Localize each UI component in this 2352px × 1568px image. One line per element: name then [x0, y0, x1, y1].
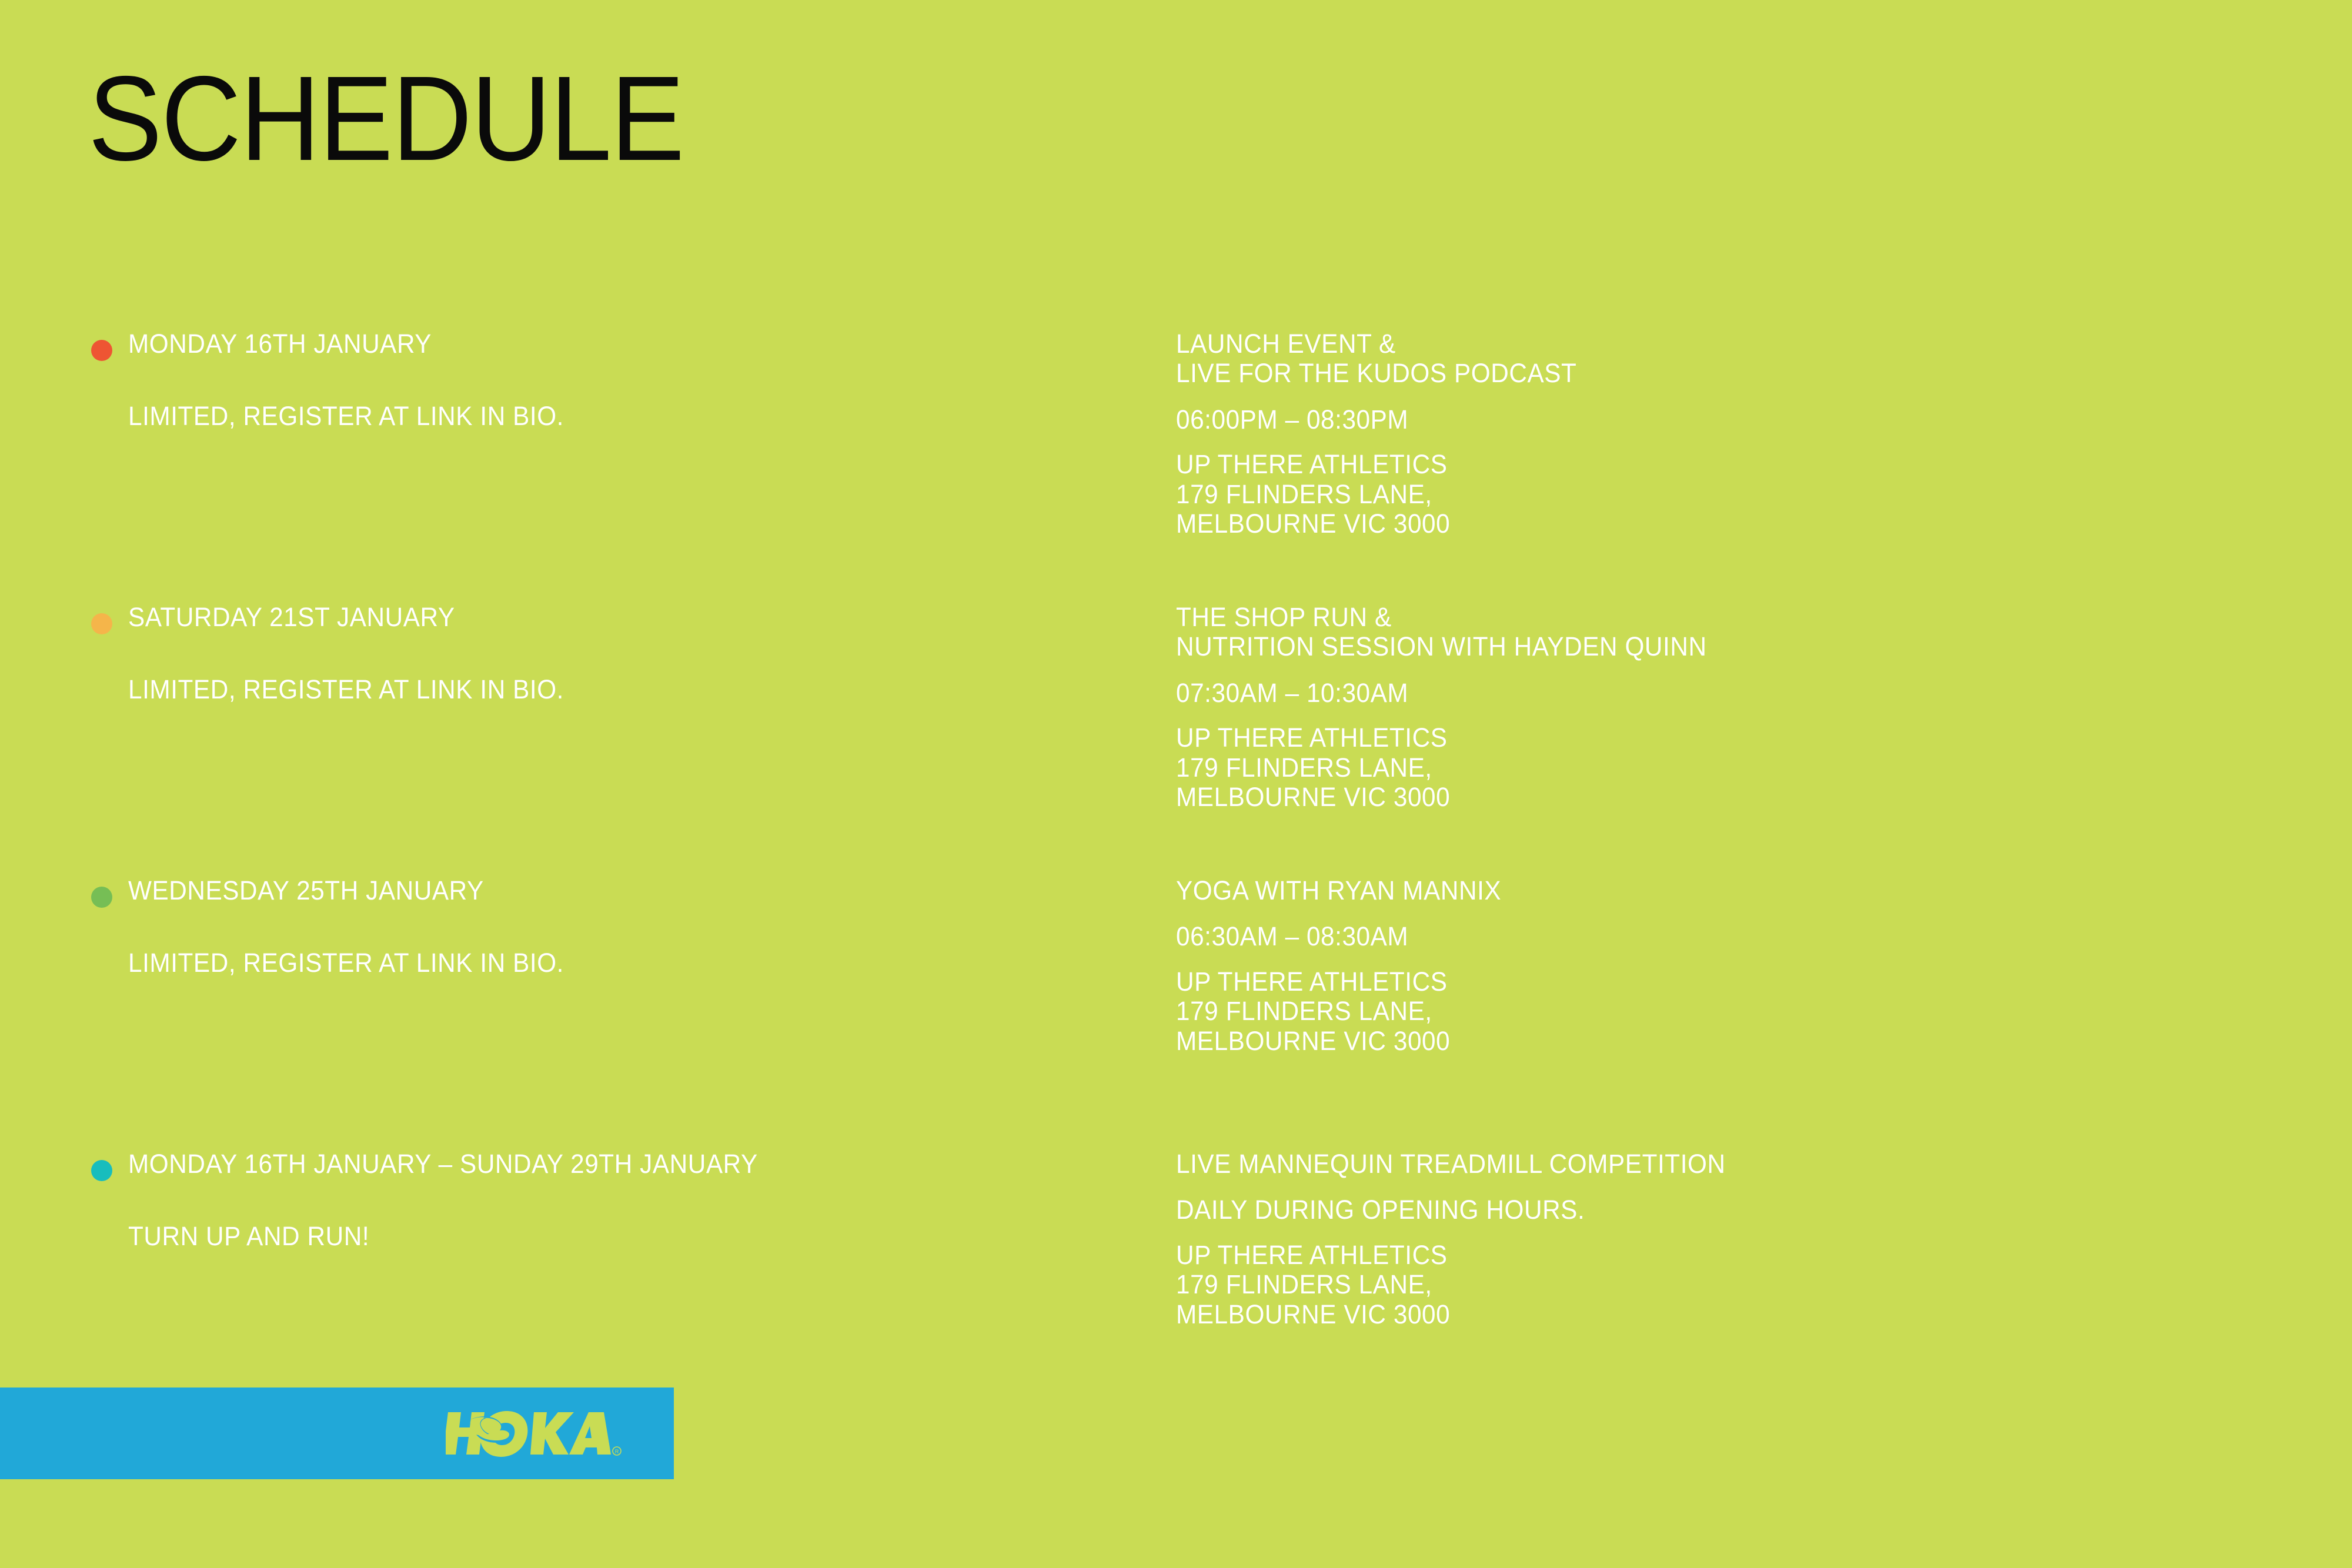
event-title: LIVE MANNEQUIN TREADMILL COMPETITION: [1176, 1149, 2199, 1179]
event-date: SATURDAY 21ST JANUARY: [128, 603, 1030, 632]
event-right-column: LIVE MANNEQUIN TREADMILL COMPETITION DAI…: [1176, 1149, 2199, 1329]
schedule-poster: SCHEDULE MONDAY 16TH JANUARY LIMITED, RE…: [0, 0, 2352, 1568]
event-row: MONDAY 16TH JANUARY LIMITED, REGISTER AT…: [0, 329, 2352, 603]
event-note: LIMITED, REGISTER AT LINK IN BIO.: [128, 675, 1030, 704]
event-venue: UP THERE ATHLETICS 179 FLINDERS LANE, ME…: [1176, 1241, 2199, 1329]
event-venue: UP THERE ATHLETICS 179 FLINDERS LANE, ME…: [1176, 723, 2199, 812]
event-time: 07:30AM – 10:30AM: [1176, 678, 2199, 708]
event-right-column: LAUNCH EVENT & LIVE FOR THE KUDOS PODCAS…: [1176, 329, 2199, 539]
schedule-list: MONDAY 16TH JANUARY LIMITED, REGISTER AT…: [0, 329, 2352, 1149]
event-time: 06:00PM – 08:30PM: [1176, 405, 2199, 434]
event-note: LIMITED, REGISTER AT LINK IN BIO.: [128, 948, 1030, 978]
event-bullet-icon: [91, 887, 112, 908]
page-title: SCHEDULE: [88, 62, 683, 176]
event-time: 06:30AM – 08:30AM: [1176, 922, 2199, 951]
event-left-column: MONDAY 16TH JANUARY LIMITED, REGISTER AT…: [88, 329, 1088, 432]
event-date: WEDNESDAY 25TH JANUARY: [128, 876, 1030, 905]
event-note: TURN UP AND RUN!: [128, 1222, 1030, 1251]
event-bullet-icon: [91, 340, 112, 361]
event-right-column: THE SHOP RUN & NUTRITION SESSION WITH HA…: [1176, 603, 2199, 812]
event-row: SATURDAY 21ST JANUARY LIMITED, REGISTER …: [0, 603, 2352, 876]
brand-footer-bar: R: [0, 1388, 674, 1479]
event-row: WEDNESDAY 25TH JANUARY LIMITED, REGISTER…: [0, 876, 2352, 1149]
event-date: MONDAY 16TH JANUARY – SUNDAY 29TH JANUAR…: [128, 1149, 1030, 1179]
event-title: THE SHOP RUN & NUTRITION SESSION WITH HA…: [1176, 603, 2199, 662]
event-title: YOGA WITH RYAN MANNIX: [1176, 876, 2199, 905]
event-right-column: YOGA WITH RYAN MANNIX 06:30AM – 08:30AM …: [1176, 876, 2199, 1056]
event-venue: UP THERE ATHLETICS 179 FLINDERS LANE, ME…: [1176, 450, 2199, 539]
event-date: MONDAY 16TH JANUARY: [128, 329, 1030, 359]
hoka-logo-icon: R: [446, 1409, 622, 1458]
event-left-column: SATURDAY 21ST JANUARY LIMITED, REGISTER …: [88, 603, 1088, 705]
event-time: DAILY DURING OPENING HOURS.: [1176, 1195, 2199, 1225]
svg-text:R: R: [615, 1449, 619, 1455]
event-bullet-icon: [91, 613, 112, 634]
event-venue: UP THERE ATHLETICS 179 FLINDERS LANE, ME…: [1176, 967, 2199, 1056]
event-bullet-icon: [91, 1160, 112, 1181]
event-note: LIMITED, REGISTER AT LINK IN BIO.: [128, 402, 1030, 431]
event-left-column: WEDNESDAY 25TH JANUARY LIMITED, REGISTER…: [88, 876, 1088, 978]
event-left-column: MONDAY 16TH JANUARY – SUNDAY 29TH JANUAR…: [88, 1149, 1088, 1252]
event-title: LAUNCH EVENT & LIVE FOR THE KUDOS PODCAS…: [1176, 329, 2199, 389]
